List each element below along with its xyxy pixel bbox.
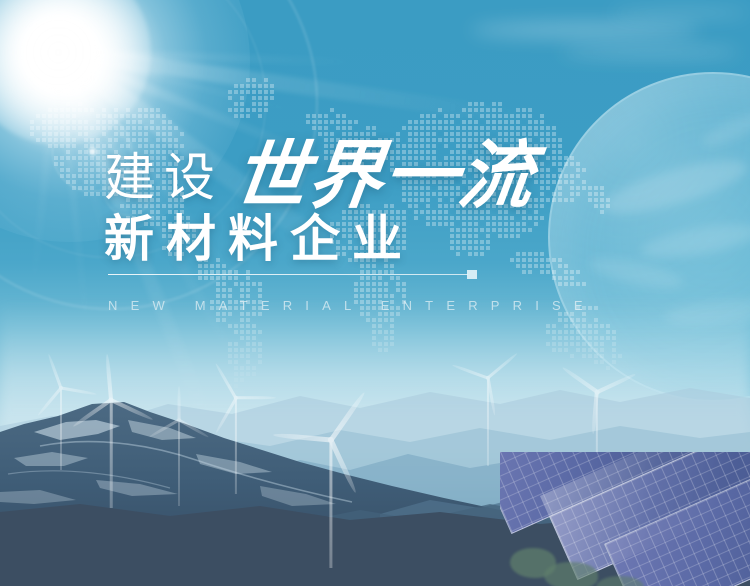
corporate-hero-banner: 建设 世界一流 新材料企业 NEW MATERIAL ENTERPRISE bbox=[0, 0, 750, 586]
subtitle-text: NEW MATERIAL ENTERPRISE bbox=[108, 298, 596, 313]
headline-line-2: 新材料企业 bbox=[104, 214, 414, 264]
divider-end-cap bbox=[467, 270, 477, 279]
headline-lead-text: 建设 bbox=[104, 152, 224, 203]
headline-emphasis-text: 世界一流 bbox=[229, 139, 538, 213]
headline-line-1: 建设 世界一流 bbox=[104, 133, 534, 207]
headline-block: 建设 世界一流 新材料企业 NEW MATERIAL ENTERPRISE bbox=[0, 0, 750, 586]
headline-divider bbox=[108, 274, 468, 275]
